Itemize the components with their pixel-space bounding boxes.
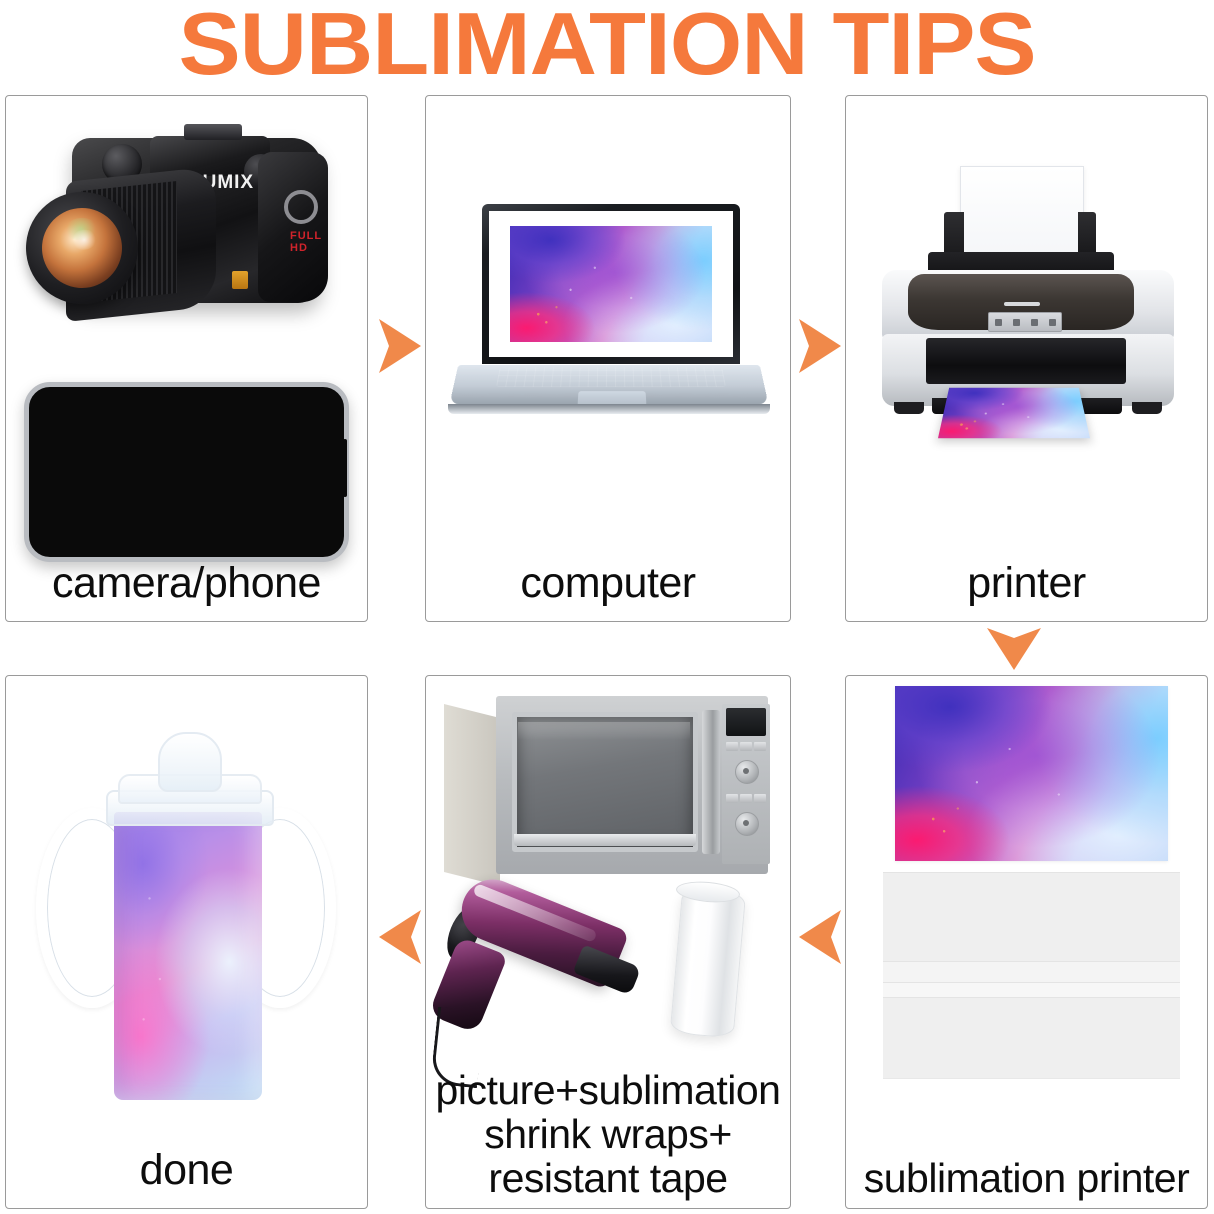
panel-sublimation-printer: sublimation printer: [845, 675, 1208, 1209]
smartphone-image: [24, 382, 349, 562]
paper-sheet: [883, 982, 1180, 998]
tumbler-sippy-spout: [158, 732, 222, 792]
phone-side-button: [343, 439, 347, 497]
microwave-button-row-top: [726, 742, 766, 751]
printed-sublimation-image: [895, 686, 1168, 861]
printer-button-ink: [1031, 319, 1038, 326]
panel-caption-printer: printer: [846, 560, 1207, 607]
laptop-keyboard: [496, 367, 726, 386]
microwave-timer-knob: [735, 812, 759, 836]
galaxy-image-on-screen: [510, 226, 713, 343]
printer-output-slot: [926, 338, 1126, 384]
microwave-display: [726, 708, 766, 736]
microwave-button-row-bottom: [726, 794, 766, 803]
panel-printer: printer: [845, 95, 1208, 622]
lens-glass: [38, 204, 126, 292]
page-title: SUBLIMATION TIPS: [0, 0, 1214, 90]
microwave-door-handle: [702, 710, 720, 854]
panel-materials: picture+sublimation shrink wraps+ resist…: [425, 675, 791, 1209]
microwave-power-knob: [735, 760, 759, 784]
hair-dryer-image: [436, 891, 646, 1051]
printer-foot-left: [894, 402, 924, 414]
microwave-button: [726, 742, 738, 751]
camera-gold-badge: [232, 271, 248, 289]
panel-caption-materials: picture+sublimation shrink wraps+ resist…: [426, 1068, 790, 1200]
panel-caption-computer: computer: [426, 560, 790, 607]
panel-caption-done: done: [6, 1147, 367, 1194]
printer-foot-right: [1132, 402, 1162, 414]
paper-sheet: [883, 961, 1180, 983]
printer-button-feed: [1013, 319, 1020, 326]
paper-sheet: [883, 872, 1180, 962]
arrow-printer-to-sublimation-printer: [985, 626, 1043, 672]
panel-camera-phone: LUMIX GH2 FULL HD camera/phone: [5, 95, 368, 622]
microwave-button: [754, 742, 766, 751]
camera-hot-shoe: [184, 124, 242, 140]
blank-sublimation-paper-stack: [883, 872, 1180, 1077]
microwave-button: [754, 794, 766, 803]
laptop-image: [454, 204, 764, 414]
panel-caption-camera-phone: camera/phone: [6, 560, 367, 607]
microwave-door-trim: [514, 834, 696, 846]
arrow-camera-to-computer: [377, 317, 423, 375]
printer-lid-slot: [1004, 302, 1040, 306]
microwave-button: [740, 742, 752, 751]
tumbler-body: [114, 812, 262, 1100]
microwave-side-panel: [444, 704, 500, 886]
printer-button-cancel: [1049, 319, 1056, 326]
printer-button-power: [995, 319, 1002, 326]
arrow-computer-to-printer: [797, 317, 843, 375]
shrink-wrap-sleeve: [670, 885, 747, 1038]
camera-fullhd-badge: FULL HD: [290, 230, 322, 254]
laptop-front-edge: [448, 404, 770, 414]
camera-lens: [26, 170, 216, 320]
paper-sheet: [883, 997, 1180, 1079]
arrow-materials-to-done: [377, 908, 423, 966]
sublimated-tumbler-image: [30, 706, 342, 1136]
microwave-door-reflection: [518, 722, 690, 740]
microwave-oven-image: [444, 694, 774, 884]
camera-grip: [258, 152, 328, 302]
printer-control-panel: [988, 312, 1062, 332]
camera-strap-lug: [284, 190, 318, 224]
arrow-sublimation-printer-to-materials: [797, 908, 843, 966]
microwave-button: [726, 794, 738, 803]
dslr-camera-image: LUMIX GH2 FULL HD: [20, 108, 350, 358]
laptop-lid: [482, 204, 740, 364]
panel-caption-sublimation-printer: sublimation printer: [846, 1156, 1207, 1200]
printed-photo: [938, 388, 1090, 438]
lens-glare: [70, 228, 98, 251]
inkjet-printer-image: [868, 166, 1188, 496]
panel-computer: computer: [425, 95, 791, 622]
microwave-button: [740, 794, 752, 803]
laptop-screen: [489, 211, 733, 357]
tumbler-spout-highlight: [302, 768, 316, 802]
panel-done: done: [5, 675, 368, 1209]
